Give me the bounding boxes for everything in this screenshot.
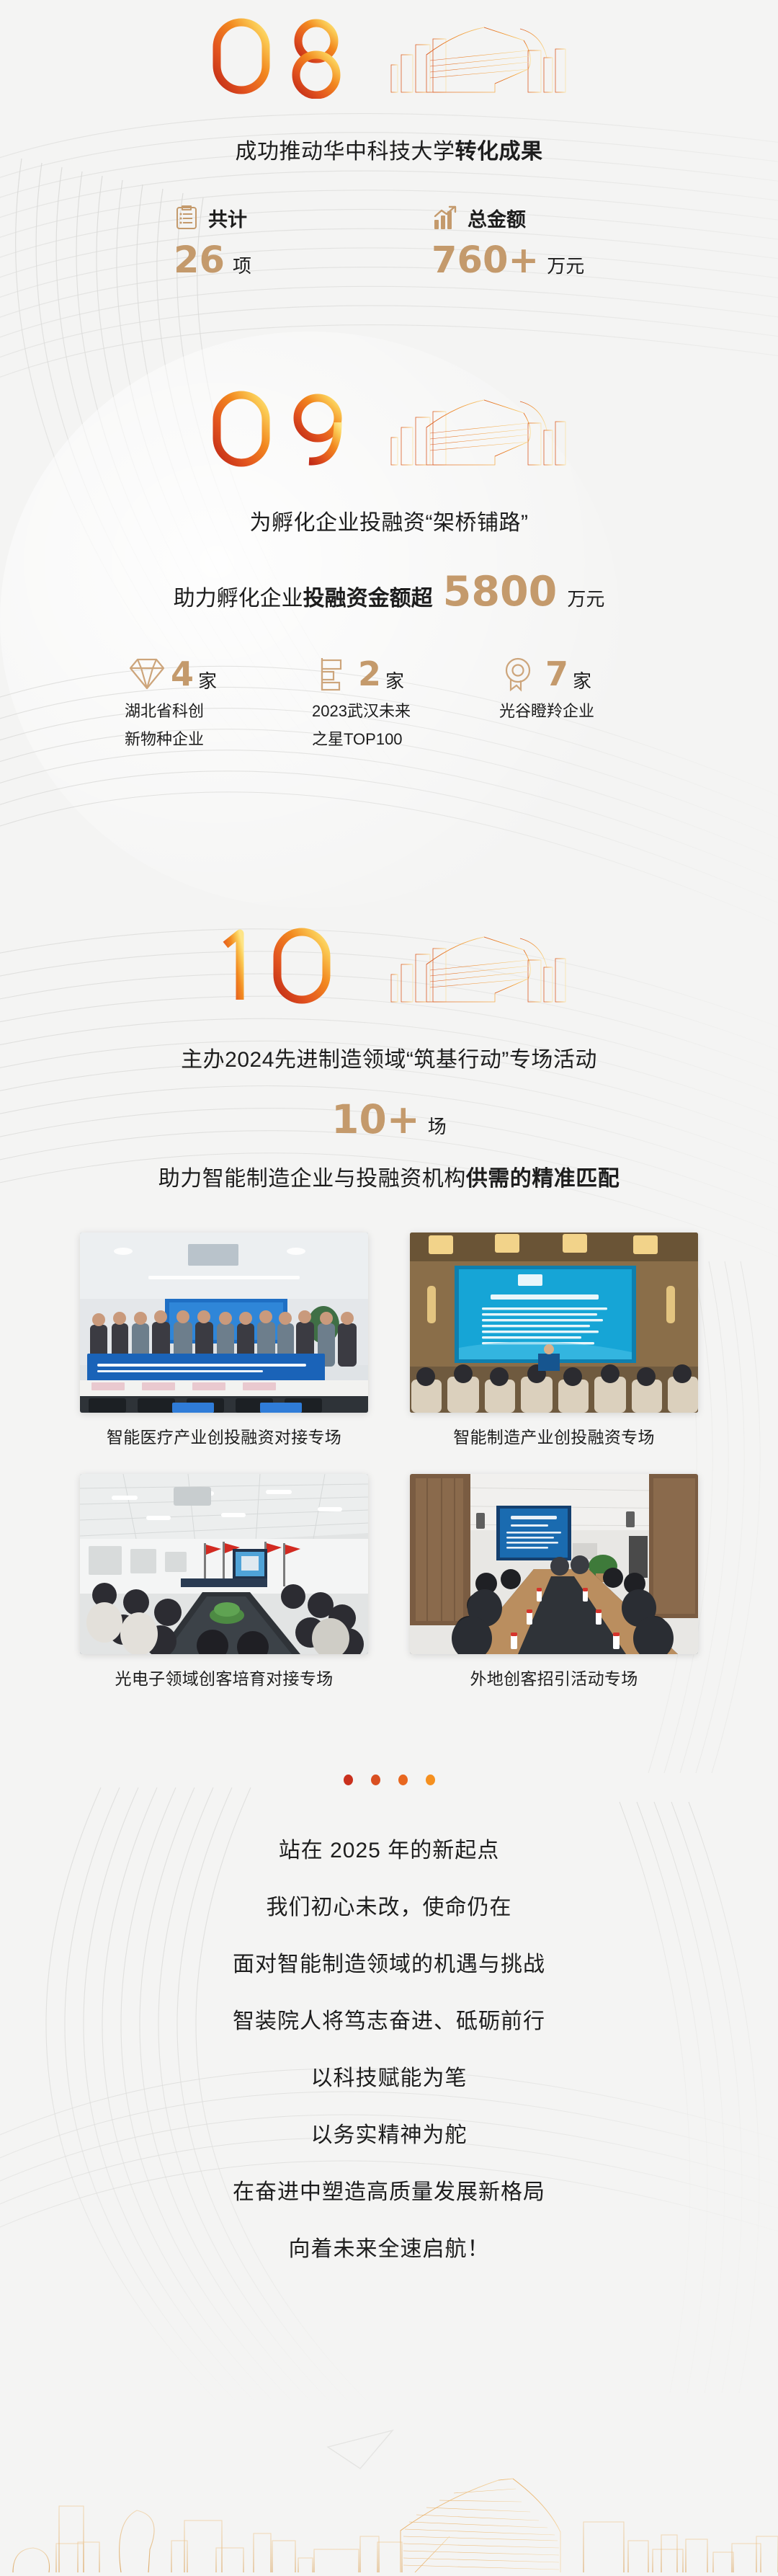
section-10: 主办2024先进制造领域“筑基行动”专场活动 10+ 场 助力智能制造企业与投融…	[0, 923, 778, 1689]
building-wireframe-08	[387, 13, 571, 99]
closing-line-6: 以务实精神为舵	[0, 2125, 778, 2146]
section-10-subtitle-bold: 供需的精准匹配	[466, 1167, 620, 1191]
section-09-amount-bold: 投融资金额超	[303, 587, 433, 610]
closing-line-7: 在奋进中塑造高质量发展新格局	[0, 2182, 778, 2203]
closing-line-2: 我们初心未改，使命仍在	[0, 1897, 778, 1919]
section-09-number-row	[0, 386, 778, 472]
tri-stat-gazelle: 7 家 光谷瞪羚企业	[499, 652, 653, 753]
section-08-title-bold: 转化成果	[455, 140, 543, 164]
event-photo-4[interactable]	[410, 1474, 698, 1654]
section-08-stats: 共计 26 项 总金	[0, 203, 778, 282]
event-photo-3-caption: 光电子领域创客培育对接专场	[80, 1665, 368, 1689]
tri-stat-gazelle-line1: 光谷瞪羚企业	[499, 698, 653, 726]
footer-skyline	[0, 2435, 778, 2572]
stat-total-projects-value-row: 26 项	[174, 239, 346, 282]
section-09-amount-prefix: 助力孵化企业	[174, 587, 303, 610]
stat-total-projects-head: 共计	[174, 203, 346, 233]
stat-total-amount-unit: 万元	[547, 252, 584, 278]
divider-dot-4	[426, 1775, 435, 1785]
tri-stat-wuhan-star: 2 家 2023武汉未来 之星TOP100	[312, 652, 466, 753]
event-photo-1-caption: 智能医疗产业创投融资对接专场	[80, 1424, 368, 1448]
stat-total-amount-head: 总金额	[432, 203, 604, 233]
stat-total-amount-value: 760+	[432, 239, 539, 282]
tri-stat-wuhan-star-value: 2	[358, 657, 381, 690]
section-number-09	[208, 386, 374, 471]
section-09-tri-stats: 4 家 湖北省科创 新物种企业 2 家	[0, 652, 778, 753]
stat-total-amount-value-row: 760+ 万元	[432, 239, 604, 282]
tri-stat-hubei-line2: 新物种企业	[125, 726, 279, 754]
photo-cell-4: 外地创客招引活动专场	[410, 1474, 698, 1689]
event-photo-3[interactable]	[80, 1474, 368, 1654]
stat-total-amount: 总金额 760+ 万元	[432, 203, 604, 282]
event-photo-4-caption: 外地创客招引活动专场	[410, 1665, 698, 1689]
section-08-title-plain: 成功推动华中科技大学	[236, 140, 455, 164]
stat-total-projects-value: 26	[174, 239, 225, 282]
section-10-count-unit: 场	[428, 1112, 447, 1139]
bar-chart-growth-icon	[432, 204, 459, 231]
stat-total-projects-unit: 项	[233, 252, 251, 278]
event-photo-2-caption: 智能制造产业创投融资专场	[410, 1424, 698, 1448]
event-photo-1[interactable]	[80, 1233, 368, 1413]
building-wireframe-10	[387, 923, 571, 1009]
medal-award-icon	[499, 654, 541, 694]
stat-total-amount-label: 总金额	[468, 204, 526, 232]
event-photo-2[interactable]	[410, 1233, 698, 1413]
closing-line-3: 面对智能制造领域的机遇与挑战	[0, 1954, 778, 1976]
tri-stat-hubei-unit: 家	[198, 667, 217, 696]
closing-line-4: 智装院人将笃志奋进、砥砺前行	[0, 2011, 778, 2033]
tri-stat-hubei-desc: 湖北省科创 新物种企业	[125, 698, 279, 753]
building-wireframe-09	[387, 386, 571, 472]
photo-cell-1: 智能医疗产业创投融资对接专场	[80, 1233, 368, 1448]
divider-dot-1	[344, 1775, 353, 1785]
tri-stat-wuhan-star-top: 2 家	[312, 652, 466, 696]
section-number-10	[208, 923, 374, 1008]
section-09-amount-value: 5800	[443, 568, 558, 616]
section-10-subtitle-plain: 助力智能制造企业与投融资机构	[158, 1167, 466, 1191]
closing-verse: 站在 2025 年的新起点 我们初心未改，使命仍在 面对智能制造领域的机遇与挑战…	[0, 1840, 778, 2260]
tri-stat-hubei-line1: 湖北省科创	[125, 698, 279, 726]
dots-row	[0, 1775, 778, 1785]
section-10-subtitle: 助力智能制造企业与投融资机构供需的精准匹配	[0, 1163, 778, 1195]
section-09-amount-unit: 万元	[567, 585, 604, 611]
divider-dot-3	[398, 1775, 408, 1785]
stat-total-projects: 共计 26 项	[174, 203, 346, 282]
tri-stat-wuhan-star-line2: 之星TOP100	[312, 726, 466, 754]
stat-total-projects-label: 共计	[208, 204, 247, 232]
tri-stat-gazelle-top: 7 家	[499, 652, 653, 696]
clipboard-list-icon	[174, 204, 200, 231]
section-09: 为孵化企业投融资“架桥铺路” 助力孵化企业投融资金额超 5800 万元 4 家 …	[0, 386, 778, 753]
closing-line-5: 以科技赋能为笔	[0, 2068, 778, 2089]
closing-line-8: 向着未来全速启航！	[0, 2239, 778, 2260]
section-10-title: 主办2024先进制造领域“筑基行动”专场活动	[0, 1044, 778, 1076]
photo-cell-3: 光电子领域创客培育对接专场	[80, 1474, 368, 1689]
tri-stat-gazelle-unit: 家	[573, 667, 591, 696]
section-10-count: 10+ 场	[0, 1096, 778, 1142]
section-09-amount: 助力孵化企业投融资金额超 5800 万元	[0, 568, 778, 616]
section-09-title: 为孵化企业投融资“架桥铺路”	[0, 507, 778, 539]
diamond-icon	[125, 654, 166, 694]
section-08-number-row	[0, 13, 778, 99]
tri-stat-gazelle-desc: 光谷瞪羚企业	[499, 698, 653, 726]
tri-stat-wuhan-star-line1: 2023武汉未来	[312, 698, 466, 726]
tri-stat-hubei-top: 4 家	[125, 652, 279, 696]
closing-line-1: 站在 2025 年的新起点	[0, 1840, 778, 1862]
bar-chart-icon	[312, 654, 354, 694]
section-10-count-value: 10+	[331, 1096, 420, 1142]
photo-cell-2: 智能制造产业创投融资专场	[410, 1233, 698, 1448]
section-08: 成功推动华中科技大学转化成果 共计 26 项	[0, 0, 778, 282]
event-photo-grid: 智能医疗产业创投融资对接专场	[0, 1233, 778, 1689]
tri-stat-wuhan-star-unit: 家	[385, 667, 404, 696]
tri-stat-hubei-value: 4	[171, 657, 194, 690]
section-10-number-row	[0, 923, 778, 1009]
tri-stat-wuhan-star-desc: 2023武汉未来 之星TOP100	[312, 698, 466, 753]
section-number-08	[208, 14, 374, 99]
dots-divider	[0, 1775, 778, 1785]
tri-stat-hubei: 4 家 湖北省科创 新物种企业	[125, 652, 279, 753]
section-08-title: 成功推动华中科技大学转化成果	[0, 136, 778, 168]
section-09-amount-text: 助力孵化企业投融资金额超	[174, 580, 433, 612]
divider-dot-2	[371, 1775, 380, 1785]
tri-stat-gazelle-value: 7	[545, 657, 568, 690]
